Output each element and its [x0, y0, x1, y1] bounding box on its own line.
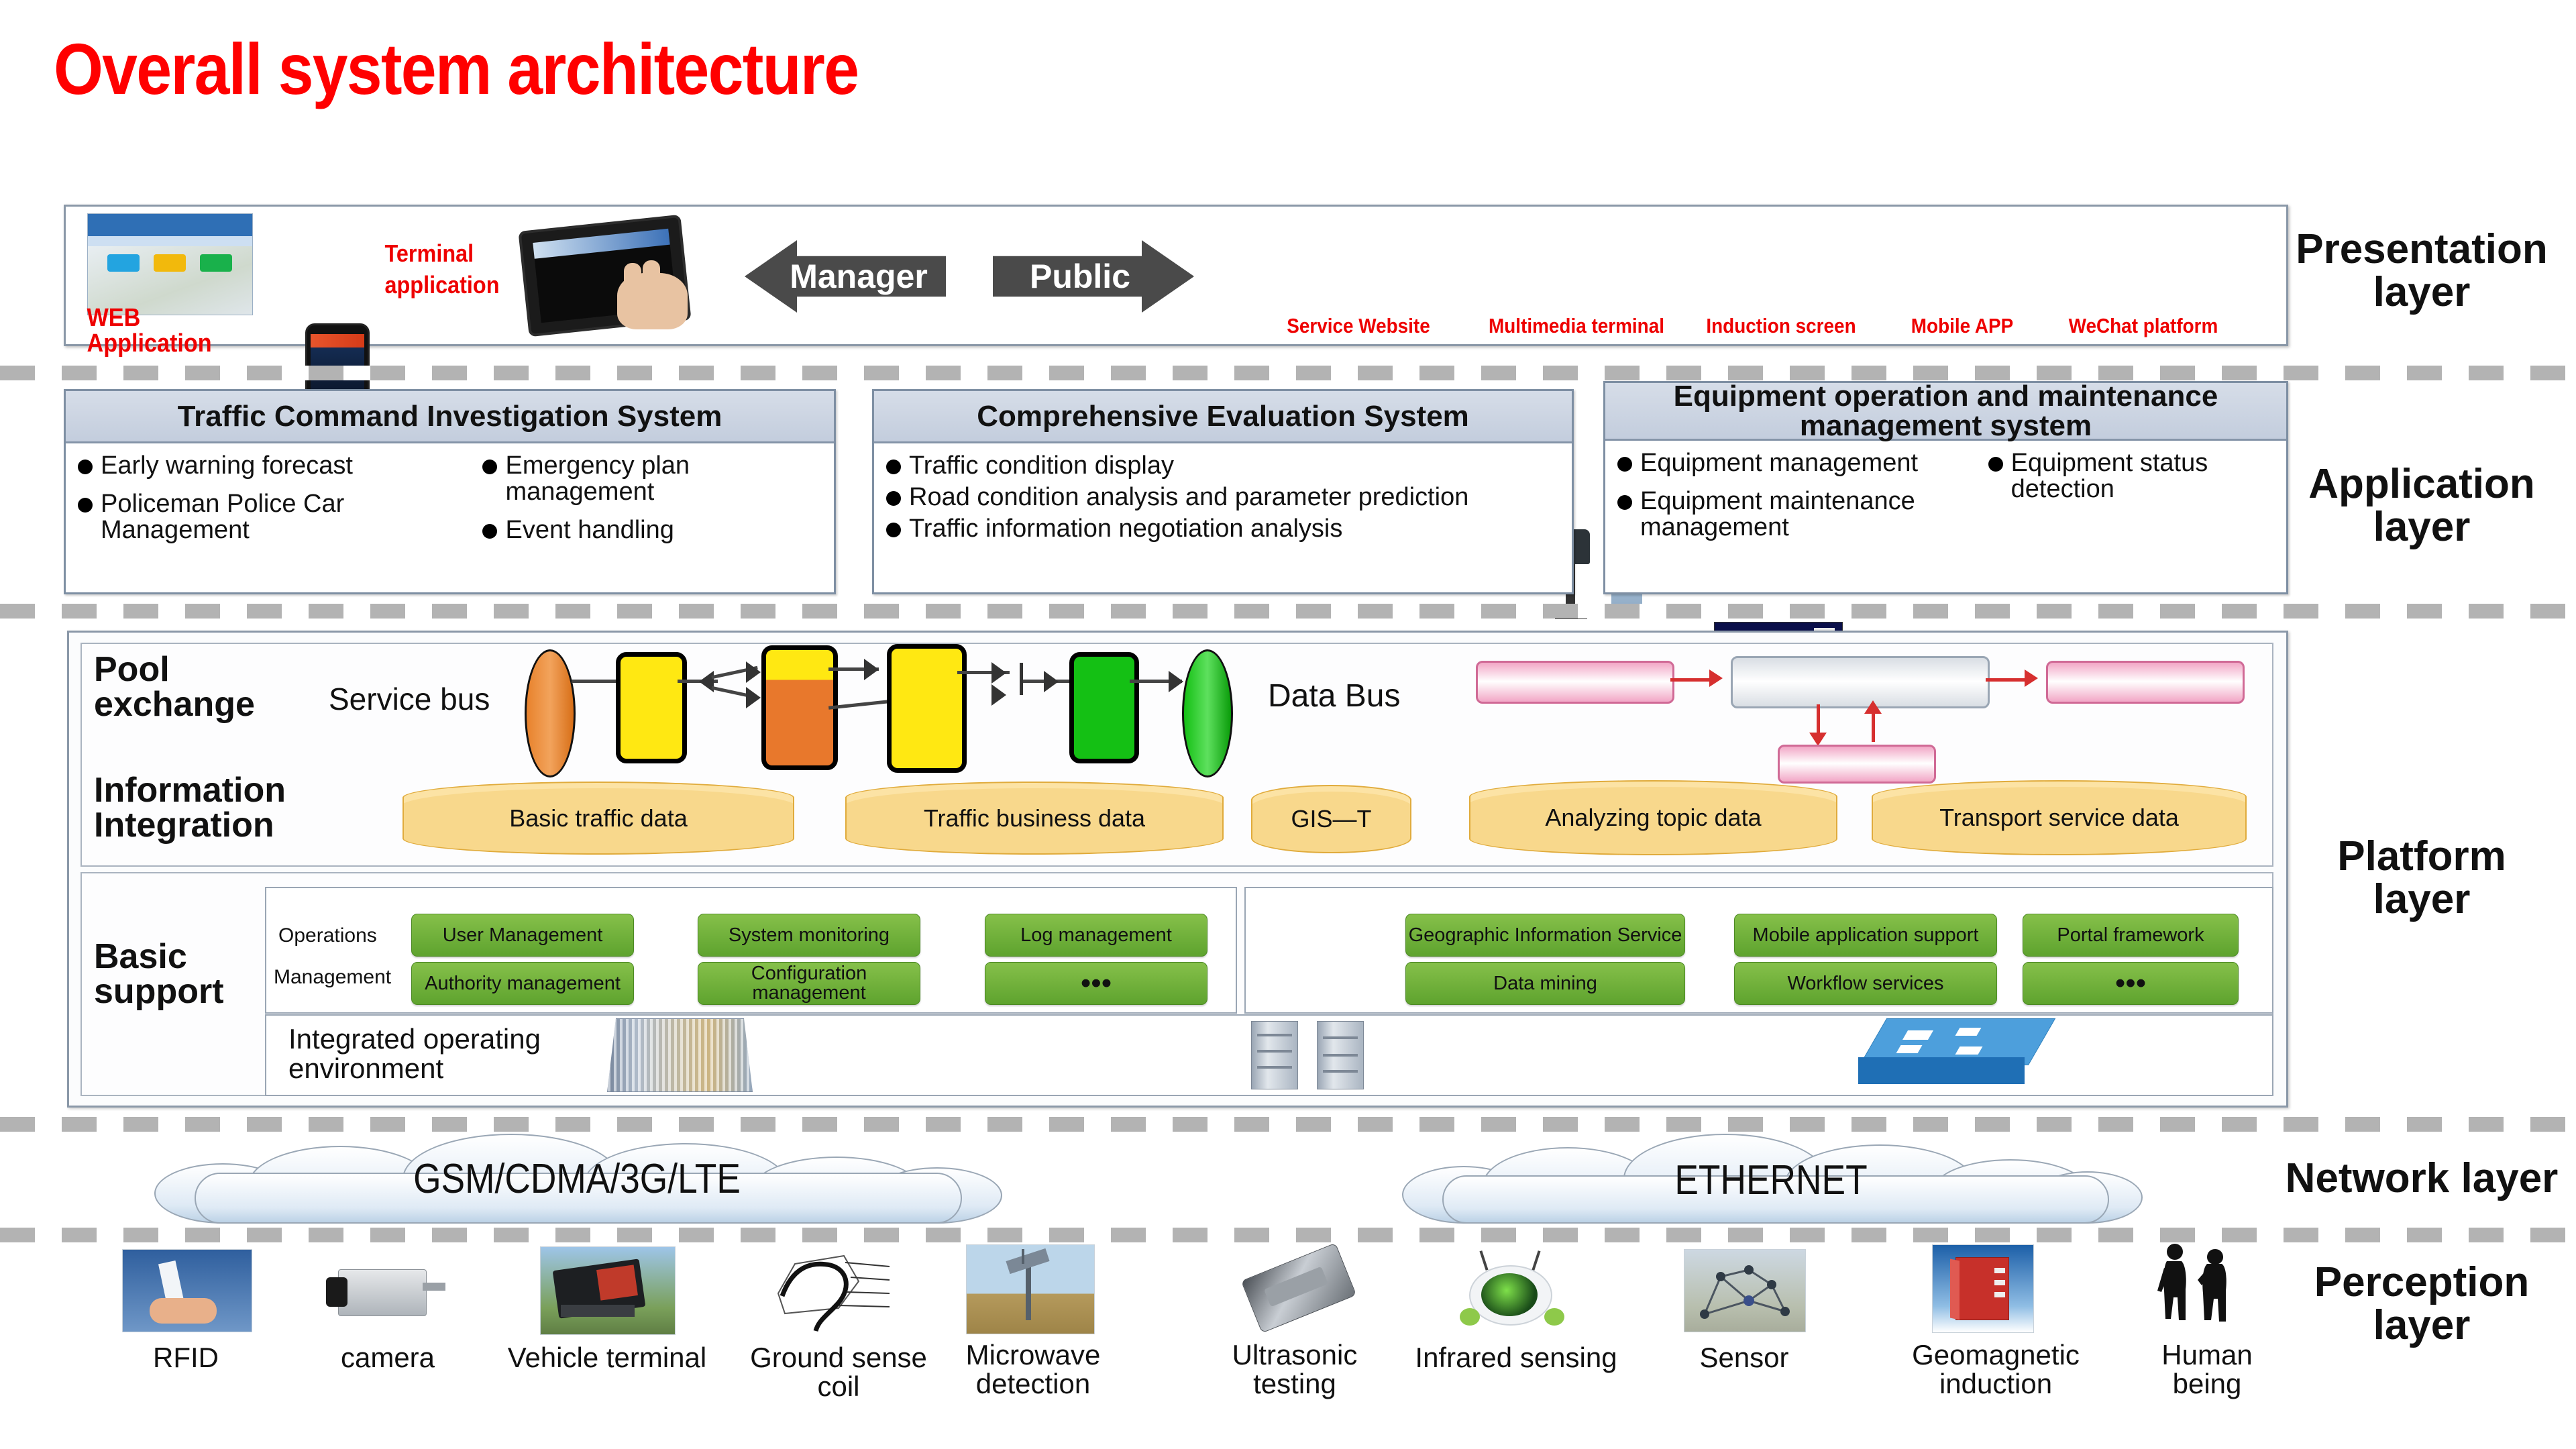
platform-layer-label-line1: Platform: [2277, 835, 2566, 878]
bullet-dot: [482, 524, 497, 539]
bullet-item: Traffic information negotiation analysis: [886, 516, 1560, 542]
data-bus-cylinder-center: [1731, 656, 1990, 708]
integrated-environment-label-line1: Integrated operating: [288, 1024, 541, 1054]
bullet-dot: [482, 460, 497, 474]
button-data-mining[interactable]: Data mining: [1405, 962, 1685, 1005]
bullet-item: Early warning forecast: [78, 453, 476, 479]
infrared-sensing-label: Infrared sensing: [1402, 1343, 1630, 1372]
pool-exchange-label-line2: exchange: [94, 687, 295, 722]
database-analyzing-topic-data: Analyzing topic data: [1469, 780, 1837, 855]
pool-exchange-label: Pool exchange: [94, 652, 295, 722]
web-application-screenshot: [87, 213, 253, 315]
information-integration-label: Information Integration: [94, 773, 362, 843]
bus-arrowhead: [864, 659, 879, 680]
app-card-column-1: Early warning forecast Policeman Police …: [78, 453, 476, 555]
app-card-title: Comprehensive Evaluation System: [874, 391, 1572, 443]
bullet-item: Equipment maintenance management: [1617, 488, 1982, 541]
perception-layer-label: Perception layer: [2277, 1261, 2566, 1348]
bullet-text: Equipment maintenance management: [1640, 488, 1982, 541]
camera-icon: [322, 1260, 449, 1327]
button-system-monitoring[interactable]: System monitoring: [698, 914, 920, 957]
server-rack-icon: [607, 1018, 753, 1092]
database-gis-t: GIS—T: [1251, 785, 1411, 853]
server-tower-icon-1: [1251, 1021, 1298, 1089]
human-being-icon: [2140, 1241, 2261, 1335]
button-geographic-information-service[interactable]: Geographic Information Service: [1405, 914, 1685, 957]
public-arrow-label: Public: [1030, 257, 1130, 296]
app-card-traffic-command[interactable]: Traffic Command Investigation System Ear…: [64, 389, 836, 594]
bullet-text: Road condition analysis and parameter pr…: [909, 484, 1468, 511]
perception-label-line2: coil: [745, 1372, 932, 1401]
bullet-dot: [886, 491, 901, 506]
rfid-icon: [122, 1249, 252, 1332]
cloud-ethernet-label: ETHERNET: [1454, 1157, 2088, 1204]
infrared-sensing-icon: [1449, 1246, 1576, 1334]
app-card-column-1: Equipment management Equipment maintenan…: [1617, 450, 1982, 552]
integrated-environment-label: Integrated operating environment: [288, 1024, 541, 1083]
perception-layer-label-line2: layer: [2277, 1304, 2566, 1347]
button-label: •••: [1081, 969, 1112, 998]
information-integration-label-line2: Integration: [94, 808, 362, 843]
perception-layer-label-line1: Perception: [2277, 1261, 2566, 1304]
induction-screen-label: Induction screen: [1700, 315, 1863, 336]
bullet-text: Equipment management: [1640, 450, 1918, 476]
rfid-label: RFID: [115, 1343, 256, 1372]
separator-network-perception: [0, 1228, 2576, 1242]
bullet-item: Traffic condition display: [886, 453, 1560, 479]
bullet-text: Traffic information negotiation analysis: [909, 516, 1342, 542]
sensor-icon: [1684, 1249, 1806, 1332]
bullet-item: Policeman Police Car Management: [78, 491, 476, 543]
server-tower-icon-2: [1317, 1021, 1364, 1089]
bullet-item: Equipment status detection: [1988, 450, 2274, 502]
bullet-text: Event handling: [505, 517, 674, 543]
cloud-ethernet: ETHERNET: [1402, 1134, 2140, 1221]
bullet-dot: [1617, 495, 1632, 510]
data-bus-arrowhead: [1709, 669, 1723, 687]
platform-layer-label-line2: layer: [2277, 878, 2566, 921]
ultrasonic-testing-icon: [1234, 1246, 1368, 1334]
microwave-detection-icon: [966, 1244, 1095, 1334]
app-card-column-2: Equipment status detection: [1988, 450, 2274, 552]
perception-label-line1: camera: [314, 1343, 462, 1372]
management-label: Management: [274, 966, 391, 989]
geomagnetic-induction-label: Geomagnetic induction: [1898, 1340, 2093, 1399]
manager-arrow-label: Manager: [790, 257, 928, 296]
app-card-title: Traffic Command Investigation System: [66, 391, 834, 443]
app-card-column-2: Emergency plan management Event handling: [482, 453, 822, 555]
data-bus-arrowhead-up: [1864, 700, 1882, 714]
integrated-environment-label-line2: environment: [288, 1054, 541, 1083]
bullet-dot: [1988, 457, 2003, 472]
page-title: Overall system architecture: [54, 27, 858, 111]
camera-label: camera: [314, 1343, 462, 1372]
pool-exchange-label-line1: Pool: [94, 652, 295, 687]
network-switch-icon: [1858, 1018, 2059, 1091]
bus-arrowhead: [746, 661, 761, 683]
presentation-layer-label: Presentation layer: [2277, 228, 2566, 315]
bullet-dot: [886, 460, 901, 474]
data-bus-up-line: [1872, 710, 1875, 742]
perception-label-line1: Vehicle terminal: [493, 1343, 721, 1372]
bus-shape-green: [1069, 652, 1139, 763]
application-layer-label-line1: Application: [2277, 463, 2566, 506]
ground-sense-coil-label: Ground sense coil: [745, 1343, 932, 1401]
bullet-text: Early warning forecast: [101, 453, 353, 479]
data-bus-cylinder-right: [2046, 661, 2245, 704]
button-more-left[interactable]: •••: [985, 962, 1207, 1005]
button-workflow-services[interactable]: Workflow services: [1734, 962, 1997, 1005]
presentation-layer-label-line1: Presentation: [2277, 228, 2566, 271]
bullet-dot: [1617, 457, 1632, 472]
application-layer-label: Application layer: [2277, 463, 2566, 549]
button-user-management[interactable]: User Management: [411, 914, 634, 957]
wechat-platform-label: WeChat platform: [2056, 315, 2231, 336]
bus-divider: [1020, 663, 1023, 695]
bus-shape-start-ellipse: [525, 649, 576, 777]
perception-label-line2: induction: [1898, 1369, 2093, 1398]
button-label: Authority management: [425, 974, 621, 994]
network-layer-label: Network layer: [2267, 1157, 2576, 1200]
human-being-label: Human being: [2133, 1340, 2281, 1399]
data-bus-cylinder-bottom: [1778, 745, 1936, 784]
perception-label-line1: Geomagnetic: [1898, 1340, 2093, 1369]
service-website-label: Service Website: [1271, 315, 1446, 336]
bullet-text: Policeman Police Car Management: [101, 491, 476, 543]
web-application-caption: WEB Application: [87, 305, 226, 356]
geomagnetic-induction-icon: [1932, 1244, 2034, 1333]
perception-label-line2: being: [2133, 1369, 2281, 1398]
web-application-caption-line1: WEB: [87, 305, 226, 331]
data-bus-down-line: [1817, 704, 1820, 737]
app-card-comprehensive-evaluation[interactable]: Comprehensive Evaluation System Traffic …: [872, 389, 1574, 594]
app-card-equipment-om[interactable]: Equipment operation and maintenance mana…: [1603, 381, 2288, 594]
database-transport-service-data: Transport service data: [1872, 780, 2247, 855]
information-integration-label-line1: Information: [94, 773, 362, 808]
perception-label-line2: detection: [939, 1369, 1127, 1398]
perception-label-line1: Ground sense: [745, 1343, 932, 1372]
tablet-in-hand-icon: [523, 223, 704, 329]
perception-label-line1: Infrared sensing: [1402, 1343, 1630, 1372]
multimedia-terminal-label: Multimedia terminal: [1477, 315, 1676, 336]
application-layer-label-line2: layer: [2277, 506, 2566, 549]
bus-arrowhead: [991, 662, 1006, 684]
app-card-title: Equipment operation and maintenance mana…: [1605, 383, 2286, 441]
platform-layer-label: Platform layer: [2277, 835, 2566, 922]
bullet-text: Equipment status detection: [2011, 450, 2274, 502]
perception-label-line1: Ultrasonic: [1201, 1340, 1389, 1369]
bus-arrowhead: [746, 687, 761, 708]
button-mobile-application-support[interactable]: Mobile application support: [1734, 914, 1997, 957]
service-bus-label: Service bus: [329, 681, 490, 717]
ultrasonic-testing-label: Ultrasonic testing: [1201, 1340, 1389, 1399]
button-more-right[interactable]: •••: [2023, 962, 2239, 1005]
button-label: Configuration management: [698, 964, 920, 1003]
perception-label-line1: Sensor: [1670, 1343, 1818, 1372]
web-application-caption-line2: Application: [87, 331, 226, 356]
bus-arrowhead: [1044, 671, 1059, 692]
button-authority-management[interactable]: Authority management: [411, 962, 634, 1005]
bullet-dot: [886, 523, 901, 537]
bus-arrowhead: [991, 684, 1006, 706]
bullet-dot: [78, 498, 93, 513]
perception-label-line2: testing: [1201, 1369, 1389, 1398]
bullet-item: Event handling: [482, 517, 822, 543]
bus-shape-yellow-1: [616, 652, 687, 763]
bullet-text: Emergency plan management: [505, 453, 822, 505]
separator-presentation-application: [0, 366, 2576, 380]
sensor-label: Sensor: [1670, 1343, 1818, 1372]
perception-label-line1: Human: [2133, 1340, 2281, 1369]
ground-sense-coil-icon: [758, 1246, 912, 1334]
bullet-item: Emergency plan management: [482, 453, 822, 505]
separator-platform-network: [0, 1117, 2576, 1132]
separator-application-platform: [0, 604, 2576, 619]
bullet-item: Equipment management: [1617, 450, 1982, 476]
perception-label-line1: RFID: [115, 1343, 256, 1372]
operations-label: Operations: [278, 924, 377, 947]
button-portal-framework[interactable]: Portal framework: [2023, 914, 2239, 957]
bullet-item: Road condition analysis and parameter pr…: [886, 484, 1560, 511]
mobile-app-label: Mobile APP: [1905, 315, 2020, 336]
data-bus-label: Data Bus: [1268, 678, 1400, 714]
cloud-gsm-cdma-3g-lte: GSM/CDMA/3G/LTE: [154, 1134, 1000, 1221]
database-traffic-business-data: Traffic business data: [845, 782, 1224, 855]
data-bus-arrowhead-down: [1809, 733, 1827, 746]
bus-shape-end-ellipse: [1182, 649, 1233, 777]
cloud-gsm-label: GSM/CDMA/3G/LTE: [213, 1155, 941, 1203]
vehicle-terminal-icon: [540, 1246, 676, 1335]
bullet-text: Traffic condition display: [909, 453, 1174, 479]
data-bus-cylinder-left: [1476, 661, 1674, 704]
database-basic-traffic-data: Basic traffic data: [402, 782, 794, 855]
microwave-detection-label: Microwave detection: [939, 1340, 1127, 1399]
bus-shape-yellow-2: [887, 644, 967, 773]
button-configuration-management[interactable]: Configuration management: [698, 962, 920, 1005]
app-card-column-1: Traffic condition display Road condition…: [886, 453, 1560, 541]
presentation-layer-label-line2: layer: [2277, 271, 2566, 314]
bus-arrowhead: [1169, 671, 1183, 692]
bullet-dot: [78, 460, 93, 474]
bus-shape-orange: [761, 645, 838, 770]
perception-label-line1: Microwave: [939, 1340, 1127, 1369]
data-bus-arrowhead: [2025, 669, 2038, 687]
vehicle-terminal-label: Vehicle terminal: [493, 1343, 721, 1372]
button-log-management[interactable]: Log management: [985, 914, 1207, 957]
